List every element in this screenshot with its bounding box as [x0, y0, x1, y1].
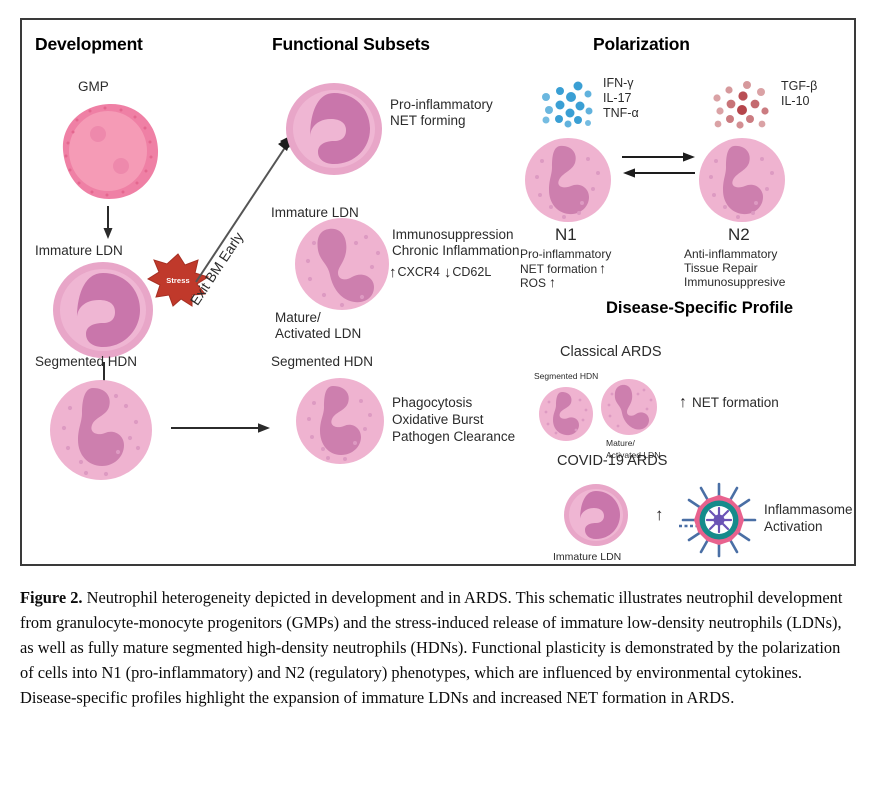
subset-label-mature-activated-ldn-line1: Mature/	[275, 309, 321, 326]
caption-text: Neutrophil heterogeneity depicted in dev…	[20, 588, 842, 707]
disease-cell-label-immature-ldn-covid: Immature LDN	[553, 551, 621, 564]
inflammasome-icon	[677, 478, 761, 562]
disease-entry-title-classical-ards: Classical ARDS	[560, 343, 662, 362]
column-heading-polarization: Polarization	[593, 34, 690, 55]
figure-caption: Figure 2. Neutrophil heterogeneity depic…	[20, 586, 856, 711]
disease-finding-text-covid-line2: Activation	[764, 518, 823, 535]
cytokine-label-n1-3: TNF-α	[603, 105, 639, 121]
disease-entry-title-covid19-ards: COVID-19 ARDS	[557, 452, 667, 471]
cell-n2	[698, 137, 786, 223]
cell-mature-activated-ldn-classical-ards	[600, 378, 658, 436]
subset-function-segmented-hdn-3: Pathogen Clearance	[392, 428, 515, 445]
disease-finding-text-covid-line1: Inflammasome	[764, 501, 853, 518]
marker-down-arrow-cd62l: ↓	[444, 265, 452, 280]
dev-step-label-immature-ldn: Immature LDN	[35, 242, 123, 259]
cell-segmented-hdn-subset	[295, 377, 385, 465]
subset-function-immature-ldn-2: NET forming	[390, 112, 466, 129]
disease-profile-heading: Disease-Specific Profile	[606, 299, 793, 318]
subset-function-segmented-hdn-2: Oxidative Burst	[392, 411, 484, 428]
cytokine-label-n2-2: IL-10	[781, 93, 810, 109]
disease-finding-text-classical: NET formation	[692, 394, 779, 411]
disease-finding-arrow-classical: ↑	[679, 395, 687, 411]
cell-n1	[524, 137, 612, 223]
figure-page: Development Functional Subsets Polarizat…	[0, 0, 877, 791]
cytokine-cloud-n1	[516, 80, 606, 134]
column-heading-functional-subsets: Functional Subsets	[272, 34, 430, 55]
cell-immature-ldn-subset	[285, 81, 383, 177]
n1-trait-3-arrow: ↑	[549, 275, 556, 289]
cytokine-label-n1-2: IL-17	[603, 90, 632, 106]
n1-trait-3-row: ROS ↑	[520, 275, 556, 291]
n2-trait-3: Immunosuppresive	[684, 275, 785, 290]
n1-trait-3: ROS	[520, 276, 546, 291]
n1-trait-2-arrow: ↑	[599, 261, 606, 275]
subset-function-mature-ldn-2: Chronic Inflammation	[392, 242, 520, 259]
cell-segmented-hdn-development	[48, 378, 154, 482]
disease-cell-label-mature-ldn-line1: Mature/	[606, 438, 635, 449]
dev-step-label-segmented-hdn: Segmented HDN	[35, 353, 137, 370]
cell-immature-ldn-development	[51, 260, 155, 360]
polarization-name-n2: N2	[728, 224, 750, 246]
subset-function-mature-ldn-1: Immunosuppression	[392, 226, 514, 243]
cell-immature-ldn-covid-ards	[563, 483, 629, 547]
arrow-gmp-to-immature-ldn	[100, 206, 116, 240]
disease-finding-arrow-covid: ↑	[655, 506, 664, 523]
disease-cell-label-segmented-hdn: Segmented HDN	[534, 371, 598, 382]
polarization-name-n1: N1	[555, 224, 577, 246]
cytokine-label-n2-1: TGF-β	[781, 78, 817, 94]
subset-function-segmented-hdn-1: Phagocytosis	[392, 394, 472, 411]
figure-frame: Development Functional Subsets Polarizat…	[20, 18, 856, 566]
disease-finding-classical-ards: ↑ NET formation	[679, 394, 779, 411]
cell-mature-activated-ldn-subset	[294, 217, 390, 311]
caption-figure-number: Figure 2.	[20, 588, 83, 607]
subset-label-mature-activated-ldn-line2: Activated LDN	[275, 325, 361, 342]
cell-gmp	[53, 98, 165, 206]
subset-markers-mature-ldn: ↑ CXCR4 ↓ CD62L	[389, 264, 491, 280]
cytokine-cloud-n2	[703, 80, 783, 132]
dev-step-label-gmp: GMP	[78, 78, 109, 95]
marker-name-cxcr4: CXCR4	[398, 264, 440, 280]
subset-label-segmented-hdn: Segmented HDN	[271, 353, 373, 370]
arrow-development-to-functional	[171, 420, 271, 436]
subset-function-immature-ldn-1: Pro-inflammatory	[390, 96, 493, 113]
column-heading-development: Development	[35, 34, 143, 55]
cytokine-label-n1-1: IFN-γ	[603, 75, 634, 91]
cell-segmented-hdn-classical-ards	[538, 386, 594, 442]
marker-name-cd62l: CD62L	[452, 264, 491, 280]
arrow-n1-n2-bidirectional	[622, 148, 696, 184]
marker-up-arrow-cxcr4: ↑	[389, 265, 397, 280]
